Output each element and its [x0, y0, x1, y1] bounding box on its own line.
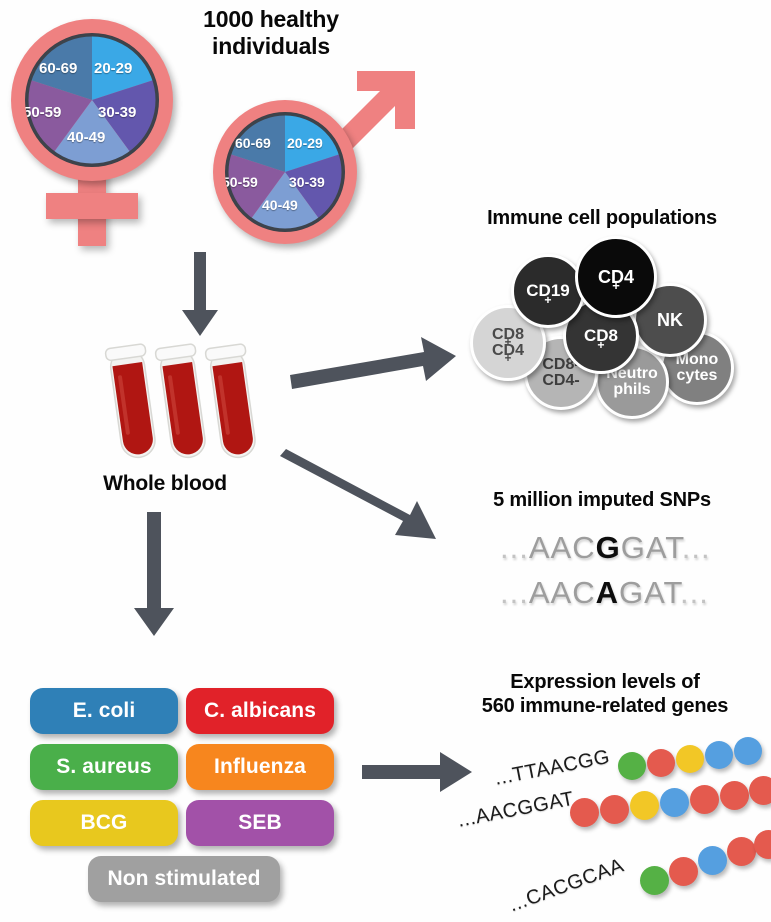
- arrow-stimulations-to-expression: [362, 752, 474, 794]
- cell-label-line2: cytes: [676, 368, 719, 384]
- pie-label-40-49: 40-49: [262, 197, 298, 213]
- expression-bead: [660, 788, 689, 817]
- snps-section-title: 5 million imputed SNPs: [452, 489, 752, 513]
- cell-label-line2-wrap: CD4+: [492, 343, 524, 359]
- pie-label-50-59: 50-59: [225, 174, 258, 190]
- expression-strands: ...TTAACGG ...AACGGAT ...CACGCAA: [470, 740, 770, 915]
- stimulation-label: Influenza: [214, 755, 306, 779]
- stimulation-label: SEB: [238, 811, 281, 835]
- stimulation-chip-bcg[interactable]: BCG: [30, 800, 178, 846]
- snp-sequence-bottom: ...AACAGAT...: [500, 575, 709, 611]
- figure-canvas: 1000 healthy individuals 20-29 30-39 40-…: [0, 0, 771, 922]
- tube-2: [155, 344, 210, 460]
- stimulation-label: C. albicans: [204, 699, 316, 723]
- expression-section-title: Expression levels of 560 immune-related …: [450, 671, 760, 718]
- female-age-pie: 20-29 30-39 40-49 50-59 60-69: [25, 33, 159, 167]
- stimulation-chip-seb[interactable]: SEB: [186, 800, 334, 846]
- tube-1: [105, 344, 160, 460]
- pie-label-20-29: 20-29: [287, 135, 323, 151]
- pie-label-30-39: 30-39: [289, 174, 325, 190]
- cell-label-line1-wrap: CD8+: [492, 327, 524, 343]
- expression-bead: [676, 745, 704, 773]
- stimulation-panel: E. coli C. albicans S. aureus Influenza …: [30, 688, 350, 888]
- arrow-blood-to-immune: [288, 330, 458, 390]
- expression-bead: [647, 749, 675, 777]
- stimulation-chip-non-stimulated[interactable]: Non stimulated: [88, 856, 280, 902]
- expression-title-line2: 560 immune-related genes: [450, 695, 760, 719]
- stimulation-chip-e-coli[interactable]: E. coli: [30, 688, 178, 734]
- female-age-pie-svg: [25, 33, 159, 167]
- immune-cell-cluster: Mono cytes Neutro phils CD8- CD4- NK CD8…: [460, 230, 760, 430]
- expression-bead: [749, 776, 771, 805]
- arrow-blood-to-snps: [284, 443, 444, 543]
- expression-bead: [690, 785, 719, 814]
- expression-bead: [705, 741, 733, 769]
- pie-label-60-69: 60-69: [39, 60, 77, 77]
- page-title-line1: 1000 healthy: [176, 6, 366, 33]
- stimulation-chip-c-albicans[interactable]: C. albicans: [186, 688, 334, 734]
- cell-label-line1: NK: [657, 311, 683, 329]
- stimulation-label: BCG: [81, 811, 128, 835]
- snp-sequences: ...AACGGAT... ...AACAGAT...: [500, 530, 750, 620]
- arrow-blood-to-stimulations: [132, 512, 176, 638]
- expression-bead: [727, 837, 756, 866]
- male-age-pie: 20-29 30-39 40-49 50-59 60-69: [225, 112, 345, 232]
- pie-label-60-69: 60-69: [235, 135, 271, 151]
- expression-bead: [640, 866, 669, 895]
- snp-prefix: ...: [500, 530, 529, 565]
- arrow-cohort-to-blood: [180, 252, 220, 338]
- snp-variant: A: [596, 575, 619, 610]
- expression-strand-3: ...CACGCAA: [470, 835, 770, 915]
- stimulation-label: S. aureus: [56, 755, 151, 779]
- male-symbol: 20-29 30-39 40-49 50-59 60-69: [205, 60, 425, 245]
- expression-bead: [630, 791, 659, 820]
- pie-label-50-59: 50-59: [25, 104, 61, 121]
- pie-label-30-39: 30-39: [98, 104, 136, 121]
- stimulation-label: E. coli: [73, 699, 136, 723]
- female-symbol-crossbar: [46, 193, 138, 219]
- snp-before: AAC: [529, 575, 596, 610]
- pie-label-20-29: 20-29: [94, 60, 132, 77]
- strand-sequence-3: ...CACGCAA: [506, 854, 627, 917]
- snp-after: GAT: [619, 575, 680, 610]
- strand-sequence-2: ...AACGGAT: [456, 788, 576, 833]
- expression-bead: [618, 752, 646, 780]
- snp-suffix: ...: [682, 530, 711, 565]
- stimulation-chip-s-aureus[interactable]: S. aureus: [30, 744, 178, 790]
- expression-bead: [570, 798, 599, 827]
- expression-bead: [754, 830, 771, 859]
- expression-bead: [720, 781, 749, 810]
- pie-label-40-49: 40-49: [67, 129, 105, 146]
- expression-bead: [669, 857, 698, 886]
- male-age-pie-svg: [225, 112, 345, 232]
- blood-tubes-svg: [96, 340, 276, 470]
- snp-after: GAT: [621, 530, 682, 565]
- cell-label: CD8+: [584, 327, 618, 344]
- cell-cd19-plus: CD19+: [511, 254, 585, 328]
- snp-sequence-top: ...AACGGAT...: [500, 530, 711, 566]
- expression-bead: [734, 737, 762, 765]
- stimulation-label: Non stimulated: [107, 867, 260, 891]
- blood-tubes: [96, 340, 276, 470]
- female-symbol: 20-29 30-39 40-49 50-59 60-69: [8, 16, 198, 241]
- cell-label: CD19+: [526, 282, 569, 299]
- page-title-line2: individuals: [176, 33, 366, 60]
- expression-title-line1: Expression levels of: [450, 671, 760, 695]
- expression-bead: [600, 795, 629, 824]
- whole-blood-label: Whole blood: [60, 472, 270, 497]
- cell-label-line2: phils: [606, 382, 658, 398]
- page-title: 1000 healthy individuals: [176, 6, 366, 60]
- cell-cd4-plus: CD4+: [575, 236, 657, 318]
- tube-3: [205, 344, 260, 460]
- expression-bead: [698, 846, 727, 875]
- snp-suffix: ...: [680, 575, 709, 610]
- snp-before: AAC: [529, 530, 596, 565]
- immune-section-title: Immune cell populations: [452, 207, 752, 231]
- cell-label-line2: CD4-: [542, 373, 579, 389]
- stimulation-chip-influenza[interactable]: Influenza: [186, 744, 334, 790]
- cell-label: CD4+: [598, 268, 634, 286]
- snp-prefix: ...: [500, 575, 529, 610]
- snp-variant: G: [596, 530, 621, 565]
